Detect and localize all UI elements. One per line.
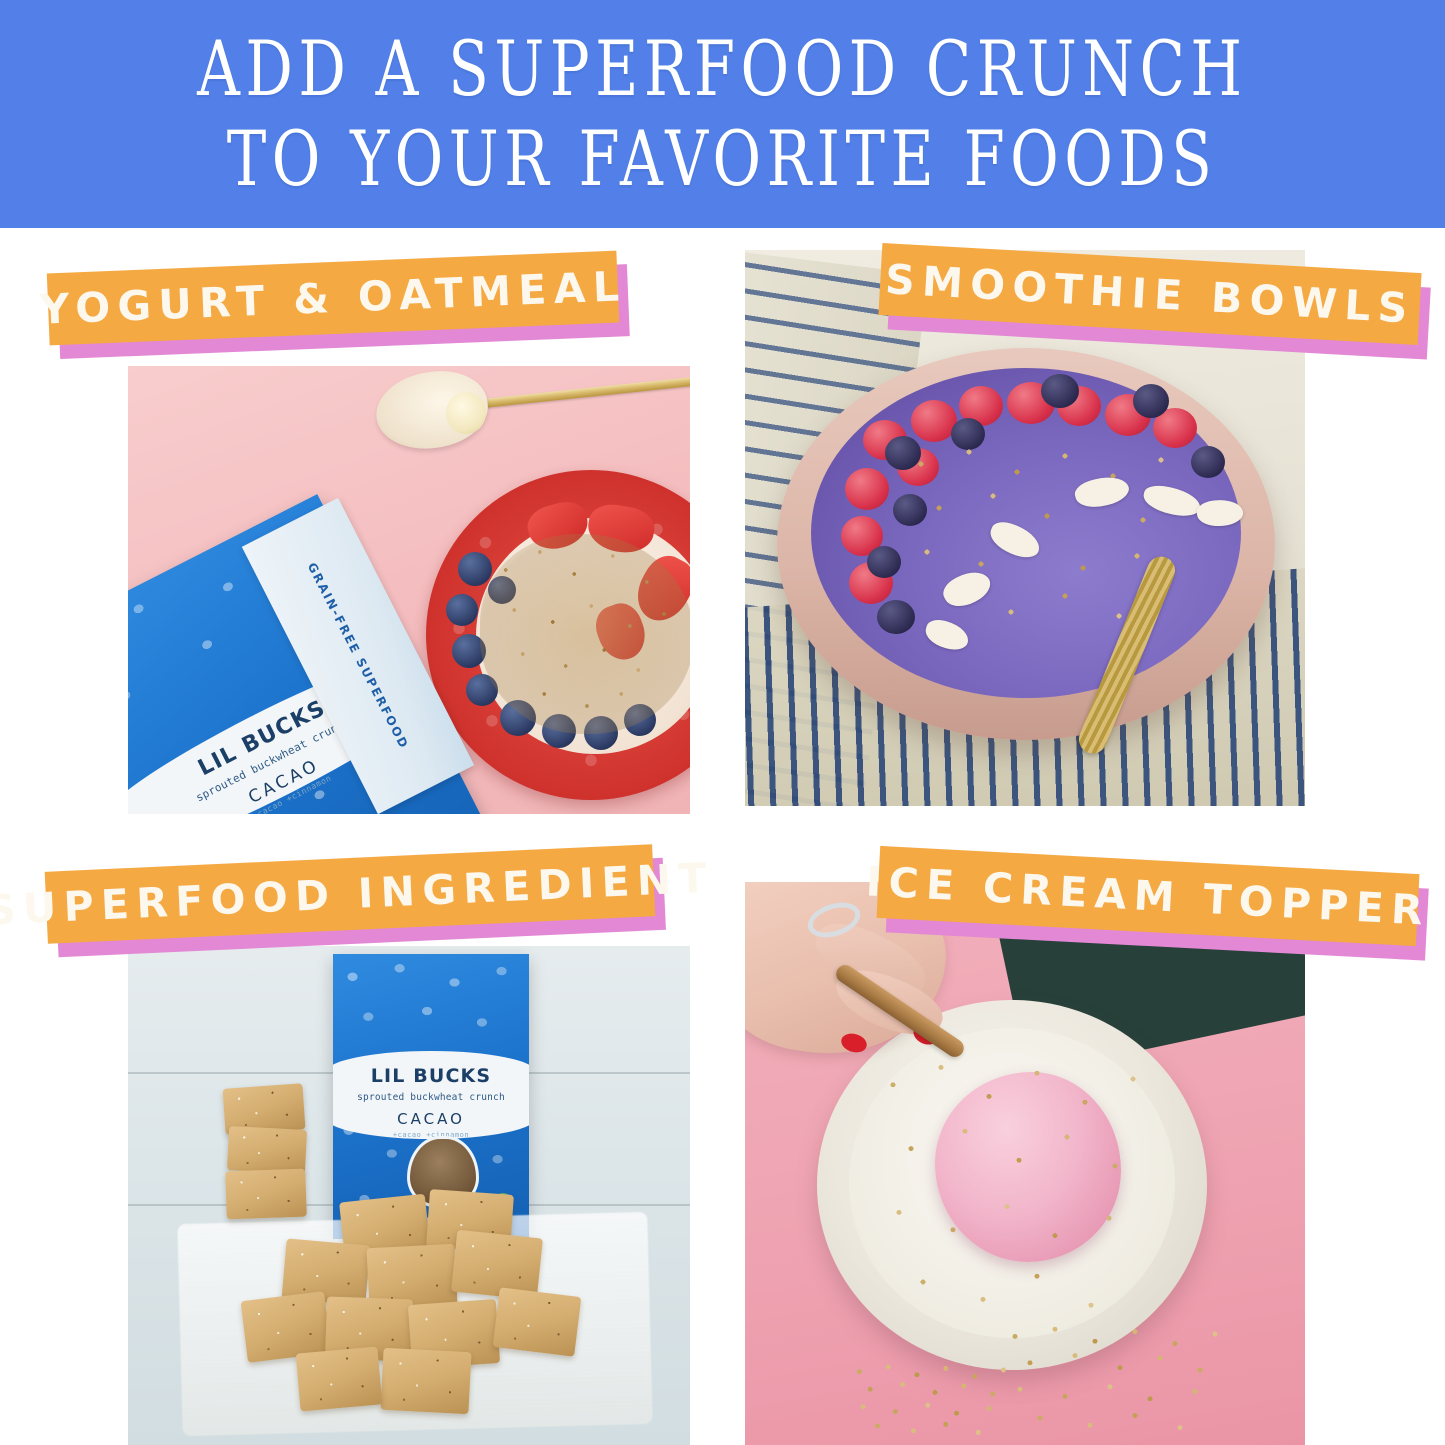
energy-bar-square	[493, 1287, 582, 1357]
header-line-1: ADD A SUPERFOOD CRUNCH	[197, 24, 1247, 114]
label-banner-smoothie-bowls: SMOOTHIE BOWLS	[878, 243, 1421, 345]
raspberry	[845, 468, 889, 510]
energy-bar-square	[225, 1169, 307, 1220]
scattered-buckwheat	[995, 1322, 1245, 1442]
package-tagline: sprouted buckwheat crunch	[333, 1092, 529, 1103]
blueberry	[446, 594, 478, 626]
header-banner: ADD A SUPERFOOD CRUNCH TO YOUR FAVORITE …	[0, 0, 1445, 228]
blueberry	[1041, 374, 1079, 408]
photo-ice-cream-topper	[745, 882, 1305, 1445]
package-brand: LIL BUCKS	[333, 1065, 529, 1087]
energy-bar-square	[296, 1347, 383, 1412]
blueberry	[867, 546, 901, 578]
banner-label-text: YOGURT & OATMEAL	[39, 262, 628, 334]
photo-yogurt-oatmeal: LIL BUCKS sprouted buckwheat crunch CACA…	[128, 366, 690, 814]
banana-slice	[446, 392, 486, 434]
buckwheat-crunch-topping	[869, 1050, 1169, 1340]
label-banner-ice-cream-topper: ICE CREAM TOPPER	[876, 846, 1419, 946]
package-flavor: CACAO	[333, 1110, 529, 1128]
package-label-band: LIL BUCKS sprouted buckwheat crunch CACA…	[333, 1051, 529, 1139]
label-banner-yogurt-oatmeal: YOGURT & OATMEAL	[47, 251, 619, 346]
photo-superfood-ingredient: LIL BUCKS sprouted buckwheat crunch CACA…	[128, 946, 690, 1445]
header-line-2: TO YOUR FAVORITE FOODS	[227, 114, 1218, 204]
energy-bar-square	[227, 1126, 307, 1174]
scattered-buckwheat	[845, 1362, 1025, 1442]
blueberry	[1133, 384, 1169, 418]
energy-bar-square	[380, 1348, 471, 1415]
label-banner-superfood-ingredient: SUPERFOOD INGREDIENT	[45, 844, 656, 944]
energy-bar-square	[451, 1230, 543, 1301]
blueberry	[458, 552, 492, 586]
buckwheat-crunch-topping	[480, 534, 690, 734]
raspberry	[911, 400, 957, 442]
